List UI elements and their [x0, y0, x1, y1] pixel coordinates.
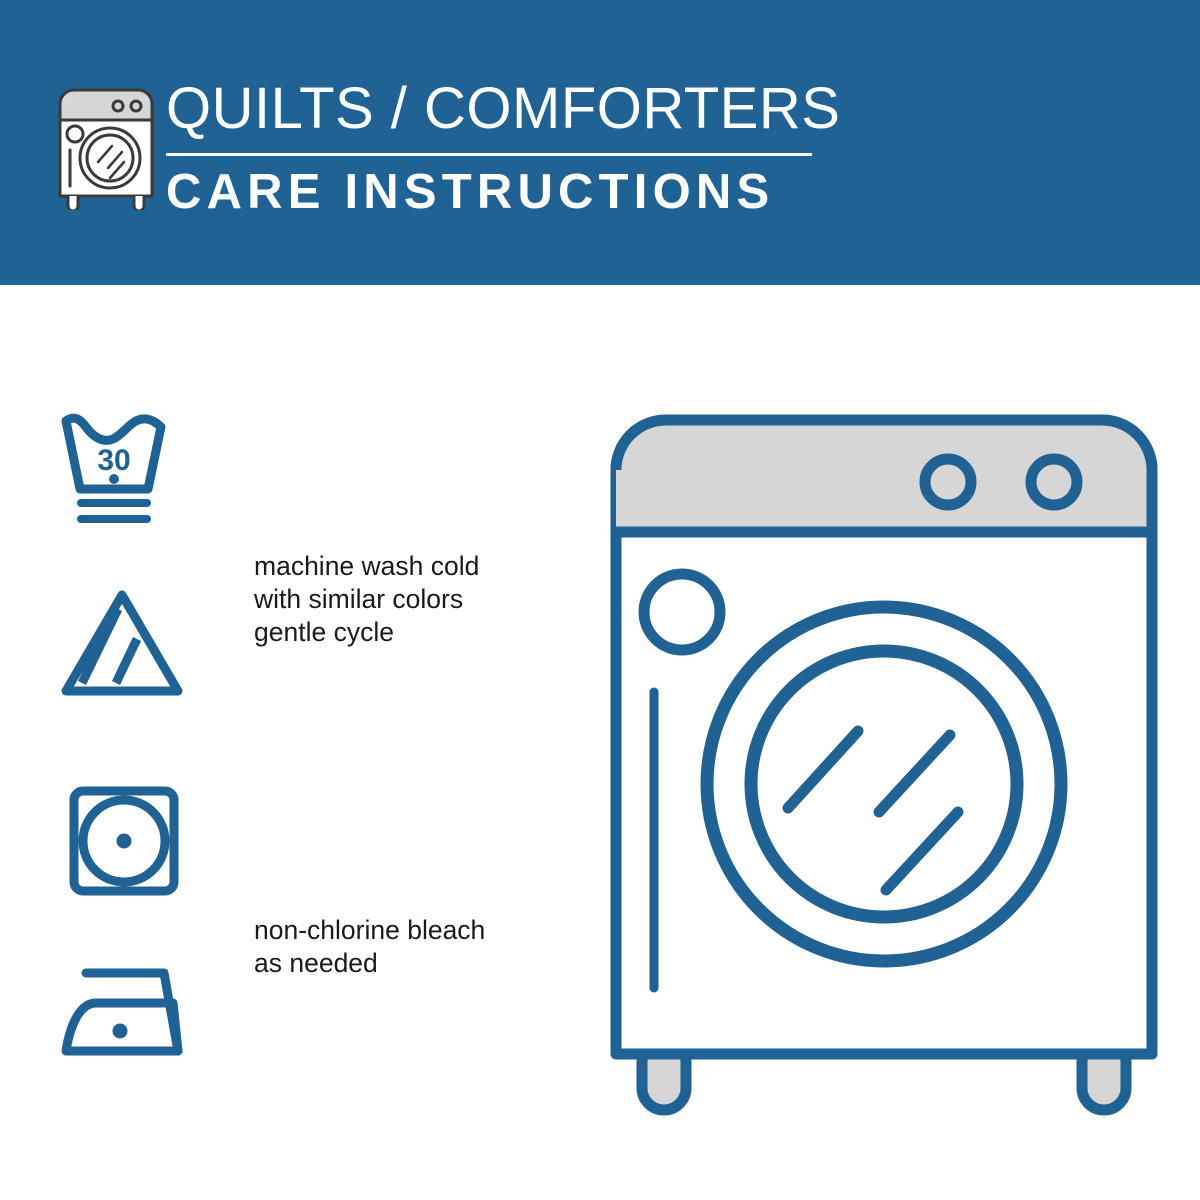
title-divider: [166, 153, 812, 156]
washing-machine-illustration: [596, 400, 1172, 1124]
care-instructions-infographic: QUILTS / COMFORTERS CARE INSTRUCTIONS 30: [0, 0, 1200, 1200]
foot-left: [642, 1054, 686, 1110]
header-title-block: QUILTS / COMFORTERS CARE INSTRUCTIONS: [166, 78, 866, 219]
svg-text:30: 30: [97, 444, 130, 477]
wash-tub-30-icon: 30: [60, 413, 190, 533]
iron-icon: [60, 953, 190, 1073]
care-symbol-list: 30 machine wash cold with similar colors…: [0, 285, 560, 1200]
care-instruction-label: non-chlorine bleach as needed: [254, 914, 485, 980]
page-title-secondary: CARE INSTRUCTIONS: [166, 165, 866, 219]
page-title-primary: QUILTS / COMFORTERS: [166, 78, 866, 140]
care-instruction-label: machine wash cold with similar colors ge…: [254, 550, 479, 649]
foot-right: [1082, 1054, 1126, 1110]
header-banner: QUILTS / COMFORTERS CARE INSTRUCTIONS: [0, 0, 1200, 285]
washing-machine-logo-icon: [52, 82, 160, 210]
bleach-triangle-icon: [60, 587, 190, 707]
tumble-dry-icon: [60, 783, 190, 903]
